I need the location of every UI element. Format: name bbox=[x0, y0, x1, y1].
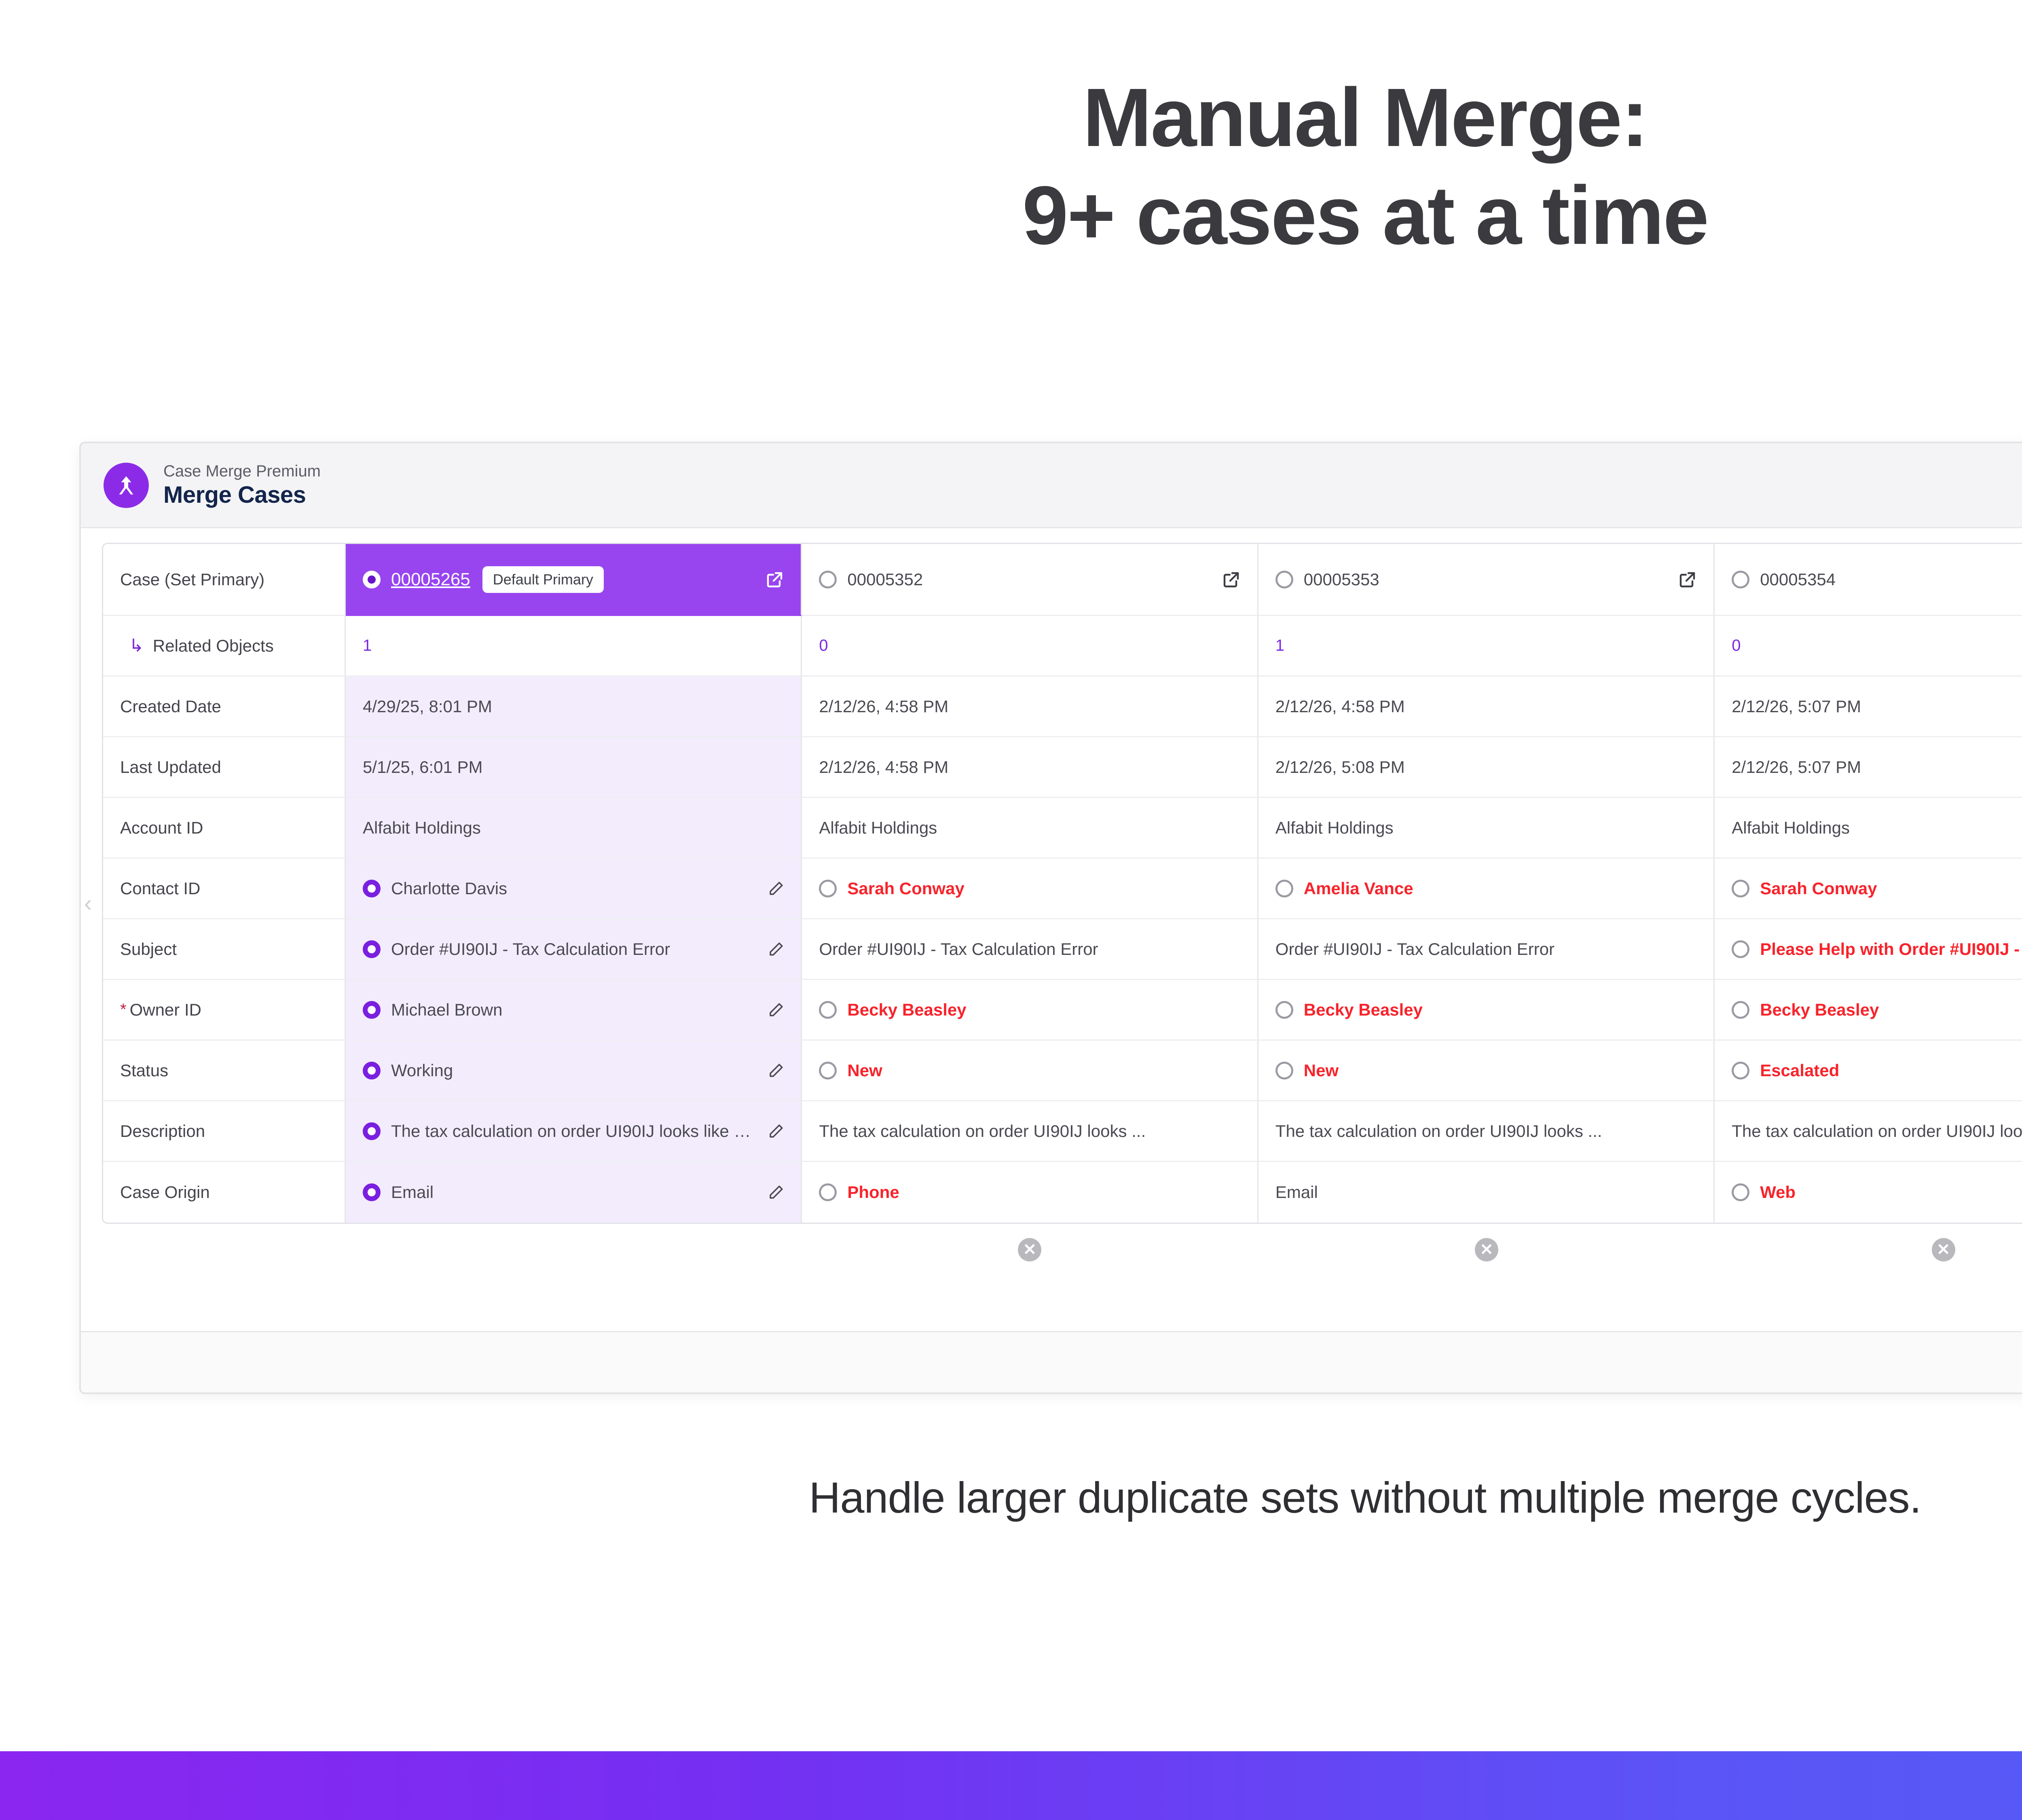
description-cell-4: The tax calculation on order UI90IJ look… bbox=[1715, 1101, 2022, 1162]
owner-id-value: Becky Beasley bbox=[1304, 1000, 1423, 1020]
app-window: Case Merge Premium Merge Cases ‹ › Case … bbox=[79, 442, 2022, 1394]
case-origin-cell-4[interactable]: Web bbox=[1715, 1162, 2022, 1223]
compare-area: ‹ › Case (Set Primary) 00005265 Default … bbox=[81, 528, 2022, 1278]
circle-x-icon[interactable]: ✕ bbox=[1018, 1238, 1041, 1261]
case-origin-cell-3: Email bbox=[1258, 1162, 1715, 1223]
related-objects-cell-1[interactable]: 1 bbox=[346, 616, 802, 677]
chevron-left-icon[interactable]: ‹ bbox=[84, 892, 92, 915]
field-radio[interactable] bbox=[819, 880, 837, 897]
case-cell-4[interactable]: 00005354 bbox=[1715, 544, 2022, 616]
case-number-link[interactable]: 00005354 bbox=[1760, 570, 1836, 589]
subject-cell-4[interactable]: Please Help with Order #UI90IJ - T... bbox=[1715, 919, 2022, 980]
status-value: Escalated bbox=[1760, 1061, 1839, 1080]
created-date-cell-4: 2/12/26, 5:07 PM bbox=[1715, 677, 2022, 737]
field-radio[interactable] bbox=[1275, 1062, 1293, 1079]
field-radio[interactable] bbox=[1732, 880, 1749, 897]
status-cell-1[interactable]: Working bbox=[346, 1041, 802, 1101]
field-radio-selected[interactable] bbox=[363, 940, 381, 958]
owner-id-value: Becky Beasley bbox=[1760, 1000, 1879, 1020]
subject-cell-3: Order #UI90IJ - Tax Calculation Error bbox=[1258, 919, 1715, 980]
owner-id-cell-2[interactable]: Becky Beasley bbox=[802, 980, 1258, 1041]
primary-radio-selected[interactable] bbox=[363, 571, 381, 588]
account-id-cell-1: Alfabit Holdings bbox=[346, 798, 802, 859]
subject-value: Please Help with Order #UI90IJ - T... bbox=[1760, 940, 2022, 959]
case-number-link[interactable]: 00005352 bbox=[847, 570, 923, 589]
status-value: New bbox=[847, 1061, 882, 1080]
row-label-text: Related Objects bbox=[153, 636, 274, 656]
pencil-icon[interactable] bbox=[768, 880, 785, 897]
related-objects-cell-2[interactable]: 0 bbox=[802, 616, 1258, 677]
status-value: New bbox=[1304, 1061, 1339, 1080]
circle-x-icon[interactable]: ✕ bbox=[1475, 1238, 1498, 1261]
case-cell-primary[interactable]: 00005265 Default Primary bbox=[346, 544, 802, 616]
field-radio[interactable] bbox=[1732, 940, 1749, 958]
case-cell-3[interactable]: 00005353 bbox=[1258, 544, 1715, 616]
case-origin-value: Email bbox=[1275, 1183, 1318, 1202]
field-radio[interactable] bbox=[819, 1062, 837, 1079]
field-radio[interactable] bbox=[819, 1183, 837, 1201]
pencil-icon[interactable] bbox=[768, 1001, 785, 1018]
merge-compare-table: Case (Set Primary) 00005265 Default Prim… bbox=[102, 543, 2022, 1224]
field-radio-selected[interactable] bbox=[363, 880, 381, 897]
contact-id-cell-1[interactable]: Charlotte Davis bbox=[346, 859, 802, 919]
field-radio[interactable] bbox=[1275, 880, 1293, 897]
field-radio[interactable] bbox=[1275, 1001, 1293, 1019]
related-objects-count[interactable]: 0 bbox=[819, 637, 828, 655]
contact-id-value: Sarah Conway bbox=[1760, 879, 1877, 898]
account-id-cell-2: Alfabit Holdings bbox=[802, 798, 1258, 859]
subject-value: Order #UI90IJ - Tax Calculation Error bbox=[1275, 940, 1555, 959]
case-number-link[interactable]: 00005353 bbox=[1304, 570, 1379, 589]
contact-id-cell-3[interactable]: Amelia Vance bbox=[1258, 859, 1715, 919]
case-origin-cell-2[interactable]: Phone bbox=[802, 1162, 1258, 1223]
set-primary-radio[interactable] bbox=[1275, 571, 1293, 588]
remove-case-2[interactable]: ✕ bbox=[802, 1238, 1258, 1261]
required-marker: * bbox=[120, 1001, 127, 1019]
related-objects-cell-3[interactable]: 1 bbox=[1258, 616, 1715, 677]
created-date-cell-2: 2/12/26, 4:58 PM bbox=[802, 677, 1258, 737]
pencil-icon[interactable] bbox=[768, 1184, 785, 1201]
row-label-text: Owner ID bbox=[130, 1000, 201, 1020]
contact-id-cell-4[interactable]: Sarah Conway bbox=[1715, 859, 2022, 919]
description-value: The tax calculation on order UI90IJ look… bbox=[1732, 1122, 2022, 1141]
last-updated-cell-1: 5/1/25, 6:01 PM bbox=[346, 737, 802, 798]
circle-x-icon[interactable]: ✕ bbox=[1932, 1238, 1955, 1261]
row-label-contact-id: Contact ID bbox=[103, 859, 346, 919]
case-cell-2[interactable]: 00005352 bbox=[802, 544, 1258, 616]
pencil-icon[interactable] bbox=[768, 941, 785, 958]
owner-id-cell-1[interactable]: Michael Brown bbox=[346, 980, 802, 1041]
set-primary-radio[interactable] bbox=[819, 571, 837, 588]
row-label-created-date: Created Date bbox=[103, 677, 346, 737]
description-value: The tax calculation on order UI90IJ look… bbox=[819, 1122, 1146, 1141]
caption-text: Handle larger duplicate sets without mul… bbox=[0, 1472, 2022, 1523]
external-link-icon[interactable] bbox=[1222, 570, 1241, 589]
brand-supertitle: Case Merge Premium bbox=[163, 461, 321, 481]
row-label-account-id: Account ID bbox=[103, 798, 346, 859]
brand: Case Merge Premium Merge Cases bbox=[104, 461, 321, 509]
row-label-last-updated: Last Updated bbox=[103, 737, 346, 798]
row-label-description: Description bbox=[103, 1101, 346, 1162]
case-origin-value: Phone bbox=[847, 1183, 899, 1202]
related-objects-cell-4[interactable]: 0 bbox=[1715, 616, 2022, 677]
slide-root: Manual Merge: 9+ cases at a time Case Me… bbox=[0, 0, 2022, 1820]
row-label-status: Status bbox=[103, 1041, 346, 1101]
last-updated-cell-3: 2/12/26, 5:08 PM bbox=[1258, 737, 1715, 798]
row-label-owner-id: * Owner ID bbox=[103, 980, 346, 1041]
hero-line-2: 9+ cases at a time bbox=[0, 167, 2022, 265]
set-primary-radio[interactable] bbox=[1732, 571, 1749, 588]
subject-cell-2: Order #UI90IJ - Tax Calculation Error bbox=[802, 919, 1258, 980]
description-cell-2: The tax calculation on order UI90IJ look… bbox=[802, 1101, 1258, 1162]
pencil-icon[interactable] bbox=[768, 1123, 785, 1140]
merge-arrow-icon bbox=[104, 463, 149, 508]
remove-case-3[interactable]: ✕ bbox=[1258, 1238, 1715, 1261]
hero-line-1: Manual Merge: bbox=[0, 69, 2022, 167]
status-value: Working bbox=[391, 1061, 453, 1080]
field-radio-selected[interactable] bbox=[363, 1062, 381, 1079]
description-cell-3: The tax calculation on order UI90IJ look… bbox=[1258, 1101, 1715, 1162]
case-number-link[interactable]: 00005265 bbox=[391, 569, 470, 590]
description-cell-1[interactable]: The tax calculation on order UI90IJ look… bbox=[346, 1101, 802, 1162]
field-radio-selected[interactable] bbox=[363, 1183, 381, 1201]
owner-id-value: Becky Beasley bbox=[847, 1000, 966, 1020]
status-cell-4[interactable]: Escalated bbox=[1715, 1041, 2022, 1101]
pencil-icon[interactable] bbox=[768, 1062, 785, 1079]
brand-text: Case Merge Premium Merge Cases bbox=[163, 461, 321, 509]
last-updated-cell-2: 2/12/26, 4:58 PM bbox=[802, 737, 1258, 798]
app-footer: Cancel Merge Cases bbox=[81, 1331, 2022, 1393]
related-objects-count[interactable]: 0 bbox=[1732, 637, 1741, 655]
external-link-icon[interactable] bbox=[765, 570, 785, 589]
remove-buttons-row: ✕ ✕ ✕ ✕ bbox=[102, 1224, 2022, 1271]
subject-value: Order #UI90IJ - Tax Calculation Error bbox=[819, 940, 1098, 959]
account-id-cell-3: Alfabit Holdings bbox=[1258, 798, 1715, 859]
external-link-icon[interactable] bbox=[1678, 570, 1697, 589]
row-label-related-objects: ↳ Related Objects bbox=[103, 616, 346, 677]
contact-id-value: Charlotte Davis bbox=[391, 879, 507, 898]
field-radio[interactable] bbox=[1732, 1183, 1749, 1201]
account-id-cell-4: Alfabit Holdings bbox=[1715, 798, 2022, 859]
last-updated-cell-4: 2/12/26, 5:07 PM bbox=[1715, 737, 2022, 798]
owner-id-value: Michael Brown bbox=[391, 1000, 502, 1020]
owner-id-cell-4[interactable]: Becky Beasley bbox=[1715, 980, 2022, 1041]
subject-value: Order #UI90IJ - Tax Calculation Error bbox=[391, 940, 670, 959]
field-radio[interactable] bbox=[1732, 1001, 1749, 1019]
sub-arrow-icon: ↳ bbox=[129, 635, 144, 656]
status-cell-2[interactable]: New bbox=[802, 1041, 1258, 1101]
created-date-cell-1: 4/29/25, 8:01 PM bbox=[346, 677, 802, 737]
hero-title: Manual Merge: 9+ cases at a time bbox=[0, 69, 2022, 265]
field-radio[interactable] bbox=[819, 1001, 837, 1019]
app-header: Case Merge Premium Merge Cases bbox=[81, 443, 2022, 528]
field-radio[interactable] bbox=[1732, 1062, 1749, 1079]
case-origin-cell-1[interactable]: Email bbox=[346, 1162, 802, 1223]
description-value: The tax calculation on order UI90IJ look… bbox=[391, 1122, 751, 1141]
row-label-case: Case (Set Primary) bbox=[103, 544, 346, 616]
owner-id-cell-3[interactable]: Becky Beasley bbox=[1258, 980, 1715, 1041]
contact-id-cell-2[interactable]: Sarah Conway bbox=[802, 859, 1258, 919]
row-label-case-origin: Case Origin bbox=[103, 1162, 346, 1223]
remove-case-4[interactable]: ✕ bbox=[1715, 1238, 2022, 1261]
description-value: The tax calculation on order UI90IJ look… bbox=[1275, 1122, 1602, 1141]
created-date-cell-3: 2/12/26, 4:58 PM bbox=[1258, 677, 1715, 737]
default-primary-chip: Default Primary bbox=[482, 566, 604, 593]
brand-title: Merge Cases bbox=[163, 481, 321, 509]
status-cell-3[interactable]: New bbox=[1258, 1041, 1715, 1101]
subject-cell-1[interactable]: Order #UI90IJ - Tax Calculation Error bbox=[346, 919, 802, 980]
related-objects-count[interactable]: 1 bbox=[363, 637, 372, 655]
field-radio-selected[interactable] bbox=[363, 1001, 381, 1019]
row-label-subject: Subject bbox=[103, 919, 346, 980]
bottom-gradient-bar bbox=[0, 1751, 2022, 1820]
contact-id-value: Amelia Vance bbox=[1304, 879, 1413, 898]
field-radio-selected[interactable] bbox=[363, 1122, 381, 1140]
case-origin-value: Email bbox=[391, 1183, 434, 1202]
contact-id-value: Sarah Conway bbox=[847, 879, 964, 898]
related-objects-count[interactable]: 1 bbox=[1275, 637, 1284, 655]
case-origin-value: Web bbox=[1760, 1183, 1796, 1202]
